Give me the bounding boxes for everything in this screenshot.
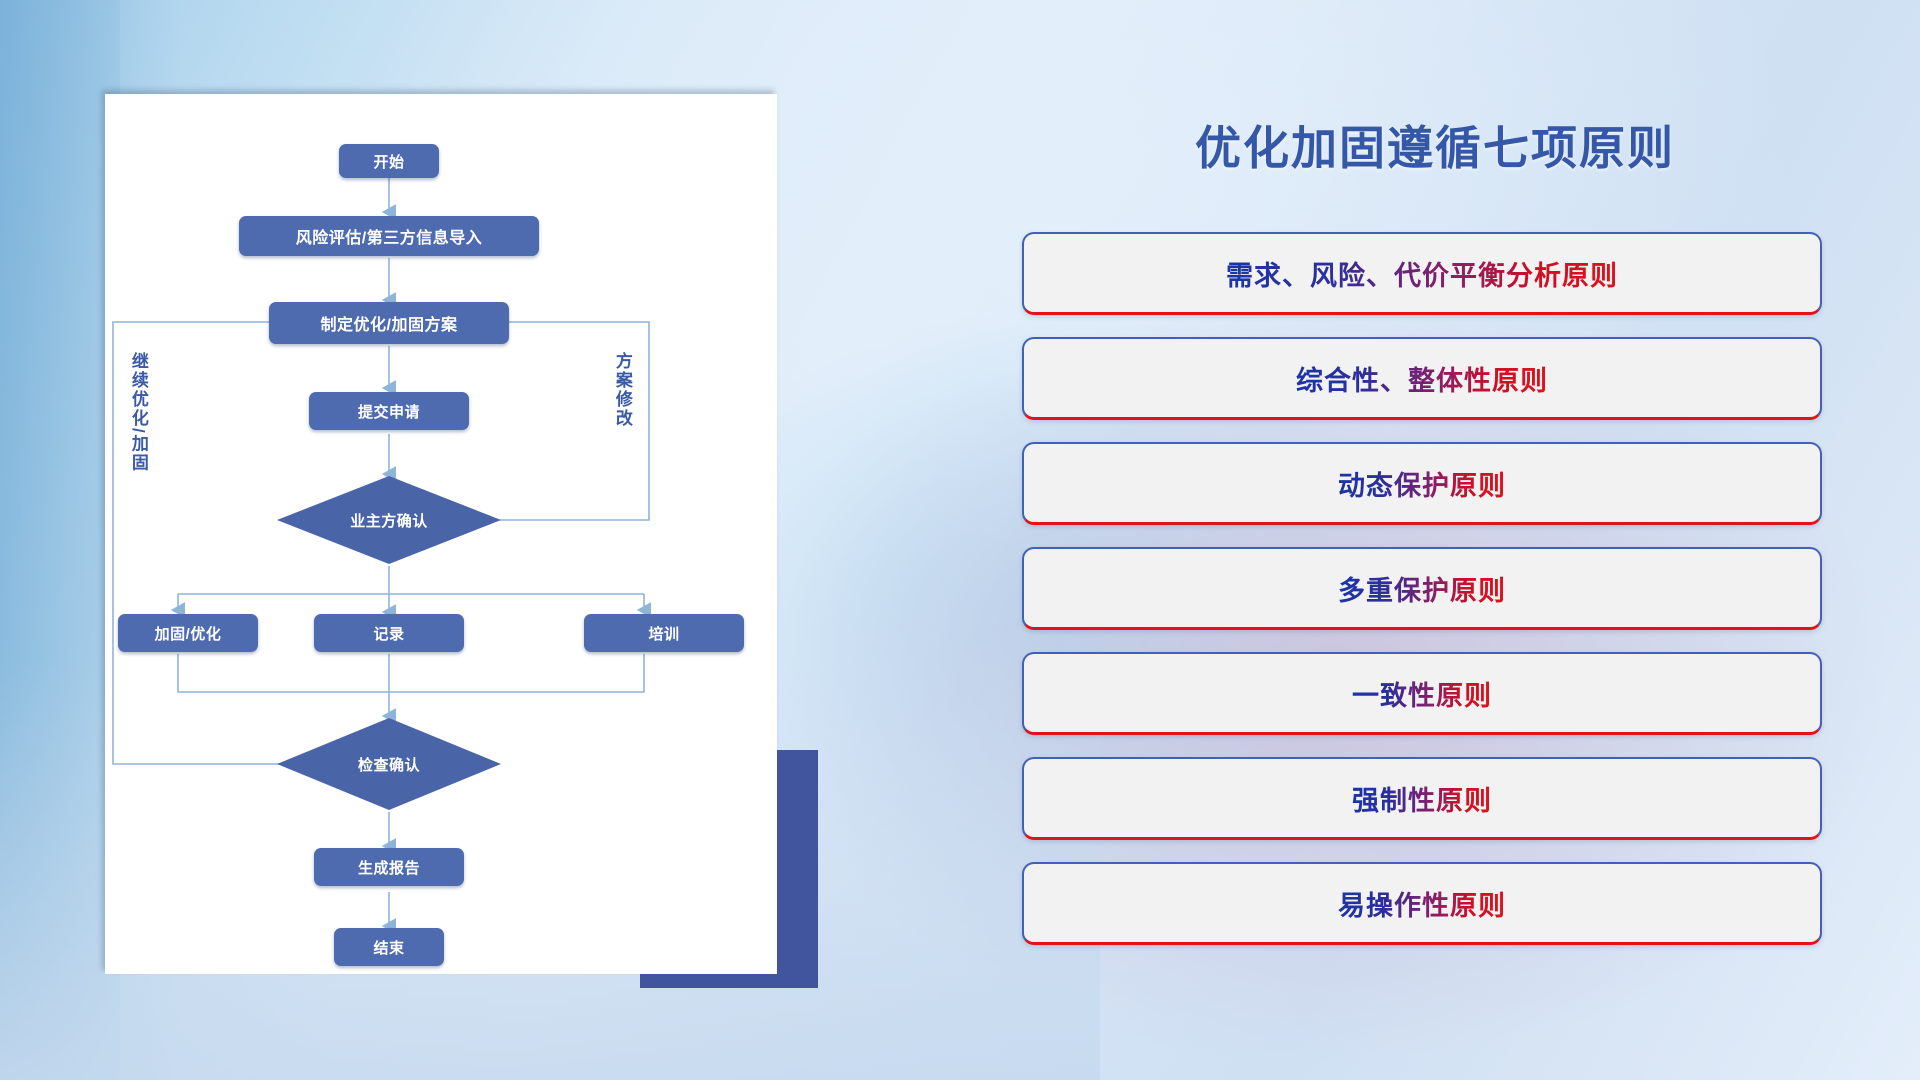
flow-node-training[interactable]: 培训 (584, 614, 744, 652)
principle-card-6[interactable]: 强制性原则 (1022, 757, 1822, 840)
flow-node-end[interactable]: 结束 (334, 928, 444, 966)
principle-card-1-label: 需求、风险、代价平衡分析原则 (1226, 254, 1618, 293)
principle-card-5-label: 一致性原则 (1352, 674, 1492, 713)
flow-node-reinforce[interactable]: 加固/优化 (118, 614, 258, 652)
flow-node-start[interactable]: 开始 (339, 144, 439, 178)
principle-card-3[interactable]: 动态保护原则 (1022, 442, 1822, 525)
page-title: 优化加固遵循七项原则 (1020, 112, 1850, 178)
flow-node-owner-confirm-label: 业主方确认 (277, 476, 501, 564)
flowchart-panel: 开始 风险评估/第三方信息导入 制定优化/加固方案 提交申请 业主方确认 加固/… (105, 94, 777, 974)
principles-list: 需求、风险、代价平衡分析原则 综合性、整体性原则 动态保护原则 多重保护原则 一… (1022, 232, 1822, 967)
flow-node-start-label: 开始 (373, 151, 404, 172)
flow-node-report-label: 生成报告 (358, 857, 420, 878)
flow-node-plan[interactable]: 制定优化/加固方案 (269, 302, 509, 344)
principle-card-4-label: 多重保护原则 (1338, 569, 1506, 608)
principle-card-7[interactable]: 易操作性原则 (1022, 862, 1822, 945)
flow-edge-label-plan-modification: 方案修改 (613, 352, 631, 482)
flowchart-nodes: 开始 风险评估/第三方信息导入 制定优化/加固方案 提交申请 业主方确认 加固/… (105, 94, 777, 974)
flow-node-risk-assessment[interactable]: 风险评估/第三方信息导入 (239, 216, 539, 256)
principle-card-3-label: 动态保护原则 (1338, 464, 1506, 503)
flow-node-check-confirm-label: 检查确认 (277, 718, 501, 810)
flow-node-training-label: 培训 (648, 623, 679, 644)
flow-node-submit[interactable]: 提交申请 (309, 392, 469, 430)
flow-node-reinforce-label: 加固/优化 (155, 623, 222, 644)
principle-card-1[interactable]: 需求、风险、代价平衡分析原则 (1022, 232, 1822, 315)
principle-card-2-label: 综合性、整体性原则 (1296, 359, 1548, 398)
flow-node-report[interactable]: 生成报告 (314, 848, 464, 886)
principle-card-5[interactable]: 一致性原则 (1022, 652, 1822, 735)
flow-node-check-confirm[interactable]: 检查确认 (277, 718, 501, 810)
flow-node-risk-assessment-label: 风险评估/第三方信息导入 (296, 224, 482, 248)
flow-node-plan-label: 制定优化/加固方案 (321, 311, 458, 335)
flow-node-submit-label: 提交申请 (358, 401, 420, 422)
flow-node-end-label: 结束 (373, 937, 404, 958)
principles-column: 优化加固遵循七项原则 需求、风险、代价平衡分析原则 综合性、整体性原则 动态保护… (1020, 0, 1850, 1080)
principle-card-7-label: 易操作性原则 (1338, 884, 1506, 923)
principle-card-6-label: 强制性原则 (1352, 779, 1492, 818)
flow-edge-label-continue-optimize: 继续优化/加固 (129, 352, 147, 512)
flow-node-record-label: 记录 (373, 623, 404, 644)
principle-card-4[interactable]: 多重保护原则 (1022, 547, 1822, 630)
flow-node-record[interactable]: 记录 (314, 614, 464, 652)
flow-node-owner-confirm[interactable]: 业主方确认 (277, 476, 501, 564)
principle-card-2[interactable]: 综合性、整体性原则 (1022, 337, 1822, 420)
